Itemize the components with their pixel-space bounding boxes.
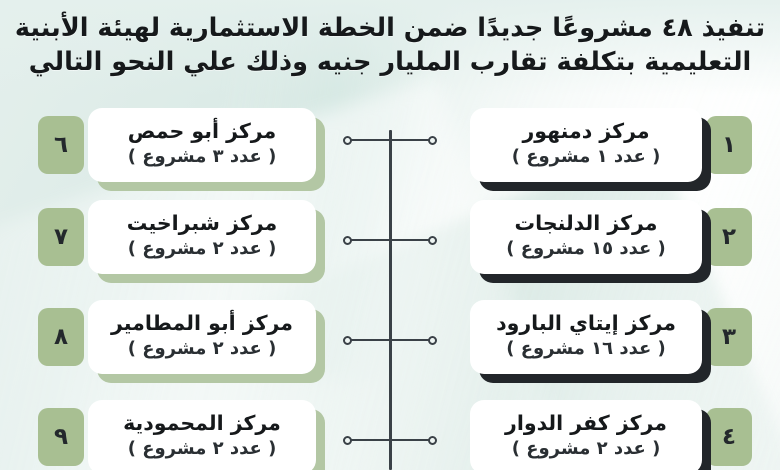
item-number-badge: ٧ [38,208,84,266]
center-card[interactable]: مركز الدلنجات ( عدد ١٥ مشروع ) [470,200,702,274]
page-title-line-2: التعليمية بتكلفة تقارب المليار جنيه وذلك… [14,46,766,80]
center-card[interactable]: مركز إيتاي البارود ( عدد ١٦ مشروع ) [470,300,702,374]
timeline-connector [347,239,433,241]
center-name: مركز دمنهور [522,120,649,143]
center-card[interactable]: مركز المحمودية ( عدد ٢ مشروع ) [88,400,316,470]
item-number-badge: ٩ [38,408,84,466]
page-title: تنفيذ ٤٨ مشروعًا جديدًا ضمن الخطة الاستث… [14,12,766,79]
center-card[interactable]: مركز أبو حمص ( عدد ٣ مشروع ) [88,108,316,182]
timeline-connector [347,139,433,141]
item-number-badge: ٣ [706,308,752,366]
project-count: ( عدد ٢ مشروع ) [128,238,277,259]
project-count: ( عدد ٢ مشروع ) [512,438,661,459]
item-number-badge: ٦ [38,116,84,174]
infographic-canvas: تنفيذ ٤٨ مشروعًا جديدًا ضمن الخطة الاستث… [0,0,780,470]
center-name: مركز أبو حمص [128,120,276,143]
center-name: مركز الدلنجات [515,212,658,235]
center-name: مركز شبراخيت [127,212,277,235]
timeline-connector [347,439,433,441]
project-count: ( عدد ٢ مشروع ) [128,338,277,359]
center-name: مركز كفر الدوار [505,412,667,435]
timeline-connector [347,339,433,341]
item-number-badge: ٢ [706,208,752,266]
project-count: ( عدد ١٥ مشروع ) [506,238,666,259]
center-name: مركز إيتاي البارود [496,312,676,335]
center-card[interactable]: مركز دمنهور ( عدد ١ مشروع ) [470,108,702,182]
project-count: ( عدد ١ مشروع ) [512,146,661,167]
item-number-badge: ٨ [38,308,84,366]
center-card[interactable]: مركز كفر الدوار ( عدد ٢ مشروع ) [470,400,702,470]
timeline-spine [389,130,392,470]
page-title-line-1: تنفيذ ٤٨ مشروعًا جديدًا ضمن الخطة الاستث… [15,13,765,43]
center-card[interactable]: مركز أبو المطامير ( عدد ٢ مشروع ) [88,300,316,374]
item-number-badge: ٤ [706,408,752,466]
center-card[interactable]: مركز شبراخيت ( عدد ٢ مشروع ) [88,200,316,274]
center-name: مركز المحمودية [123,412,281,435]
center-name: مركز أبو المطامير [111,312,293,335]
item-number-badge: ١ [706,116,752,174]
project-count: ( عدد ٢ مشروع ) [128,438,277,459]
project-count: ( عدد ١٦ مشروع ) [506,338,666,359]
project-count: ( عدد ٣ مشروع ) [128,146,277,167]
